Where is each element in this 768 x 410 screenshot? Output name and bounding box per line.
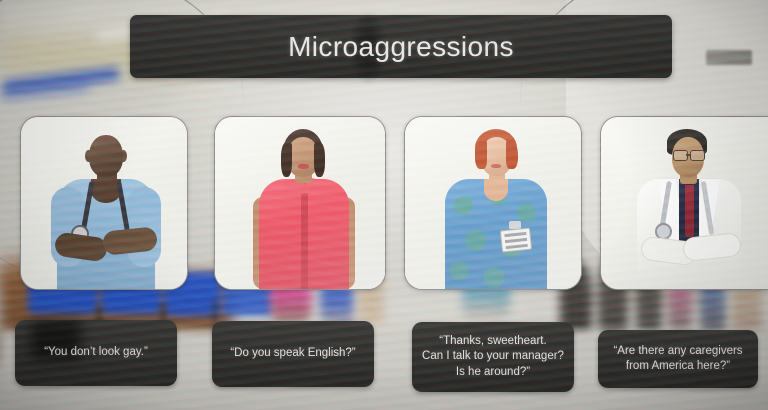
hair-side-left [475, 141, 487, 169]
caption-box-3: “Thanks, sweetheart. Can I talk to your … [412, 322, 574, 392]
caption-box-4: “Are there any caregivers from America h… [598, 330, 758, 388]
figure-south-asian-doctor [601, 117, 768, 289]
eyeglasses-lens-right [690, 150, 705, 161]
lips [491, 164, 501, 168]
caption-box-1: “You don’t look gay.” [15, 320, 177, 386]
eyeglasses-bridge [686, 154, 691, 156]
portrait-panel-3 [404, 116, 582, 290]
caption-text-2: “Do you speak English?” [230, 346, 355, 361]
blouse-button-placket [301, 183, 308, 290]
figure-black-male-nurse [21, 117, 187, 289]
caption-text-1: “You don’t look gay.” [44, 345, 148, 360]
caption-text-4: “Are there any caregivers from America h… [613, 344, 742, 374]
page-title: Microaggressions [288, 31, 514, 63]
figure-red-haired-nurse [405, 117, 581, 289]
lips [298, 164, 309, 169]
id-badge [500, 227, 532, 252]
hair-side-left [281, 143, 292, 177]
bezel-label [706, 50, 752, 65]
head [89, 135, 123, 177]
portrait-panel-2 [214, 116, 386, 290]
presentation-slide-photo: Microaggressions [0, 0, 768, 410]
hair-side-right [314, 143, 325, 177]
portrait-panel-1 [20, 116, 188, 290]
slide-title-banner: Microaggressions [130, 15, 672, 78]
caption-text-3: “Thanks, sweetheart. Can I talk to your … [422, 334, 564, 380]
caption-box-2: “Do you speak English?” [212, 321, 374, 387]
figure-latina-woman [215, 117, 385, 289]
portrait-panel-4 [600, 116, 768, 290]
hair-side-right [506, 141, 518, 169]
red-tie-front [685, 185, 694, 237]
